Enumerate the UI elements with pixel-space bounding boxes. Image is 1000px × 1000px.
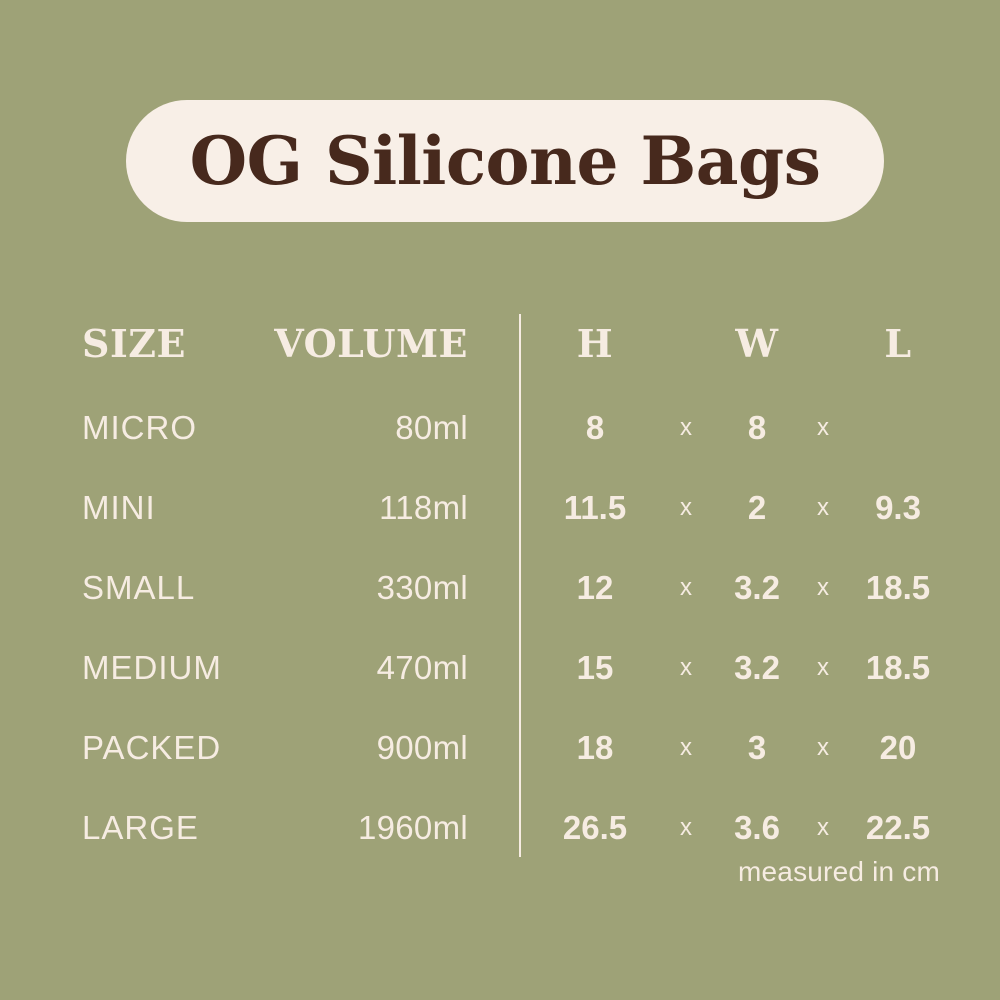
table-row: PACKED 900ml 18 x 3 x 20 [0,718,1000,778]
cell-length: 18.5 [838,649,958,687]
cell-volume: 80ml [238,409,468,447]
cell-height: 26.5 [535,809,655,847]
header-volume: VOLUME [238,325,468,363]
cell-volume: 330ml [238,569,468,607]
cell-volume: 1960ml [238,809,468,847]
cell-volume: 470ml [238,649,468,687]
table-row: MEDIUM 470ml 15 x 3.2 x 18.5 [0,638,1000,698]
header-height: H [535,325,655,363]
table-row: MICRO 80ml 8 x 8 x [0,398,1000,458]
separator-x: x [793,414,853,442]
header-length: L [838,325,958,363]
cell-length: 22.5 [838,809,958,847]
table-row: SMALL 330ml 12 x 3.2 x 18.5 [0,558,1000,618]
cell-height: 8 [535,409,655,447]
title-pill: OG Silicone Bags [126,100,884,222]
cell-length: 20 [838,729,958,767]
cell-height: 11.5 [535,489,655,527]
cell-volume: 118ml [238,489,468,527]
cell-length: 18.5 [838,569,958,607]
header-width: W [697,325,817,363]
page-title: OG Silicone Bags [190,128,821,194]
table-header-row: SIZE VOLUME H W L [0,314,1000,374]
cell-height: 18 [535,729,655,767]
cell-height: 12 [535,569,655,607]
table-row: MINI 118ml 11.5 x 2 x 9.3 [0,478,1000,538]
cell-volume: 900ml [238,729,468,767]
cell-length: 9.3 [838,489,958,527]
measurement-unit-note: measured in cm [540,856,940,888]
cell-height: 15 [535,649,655,687]
table-row: LARGE 1960ml 26.5 x 3.6 x 22.5 [0,798,1000,858]
